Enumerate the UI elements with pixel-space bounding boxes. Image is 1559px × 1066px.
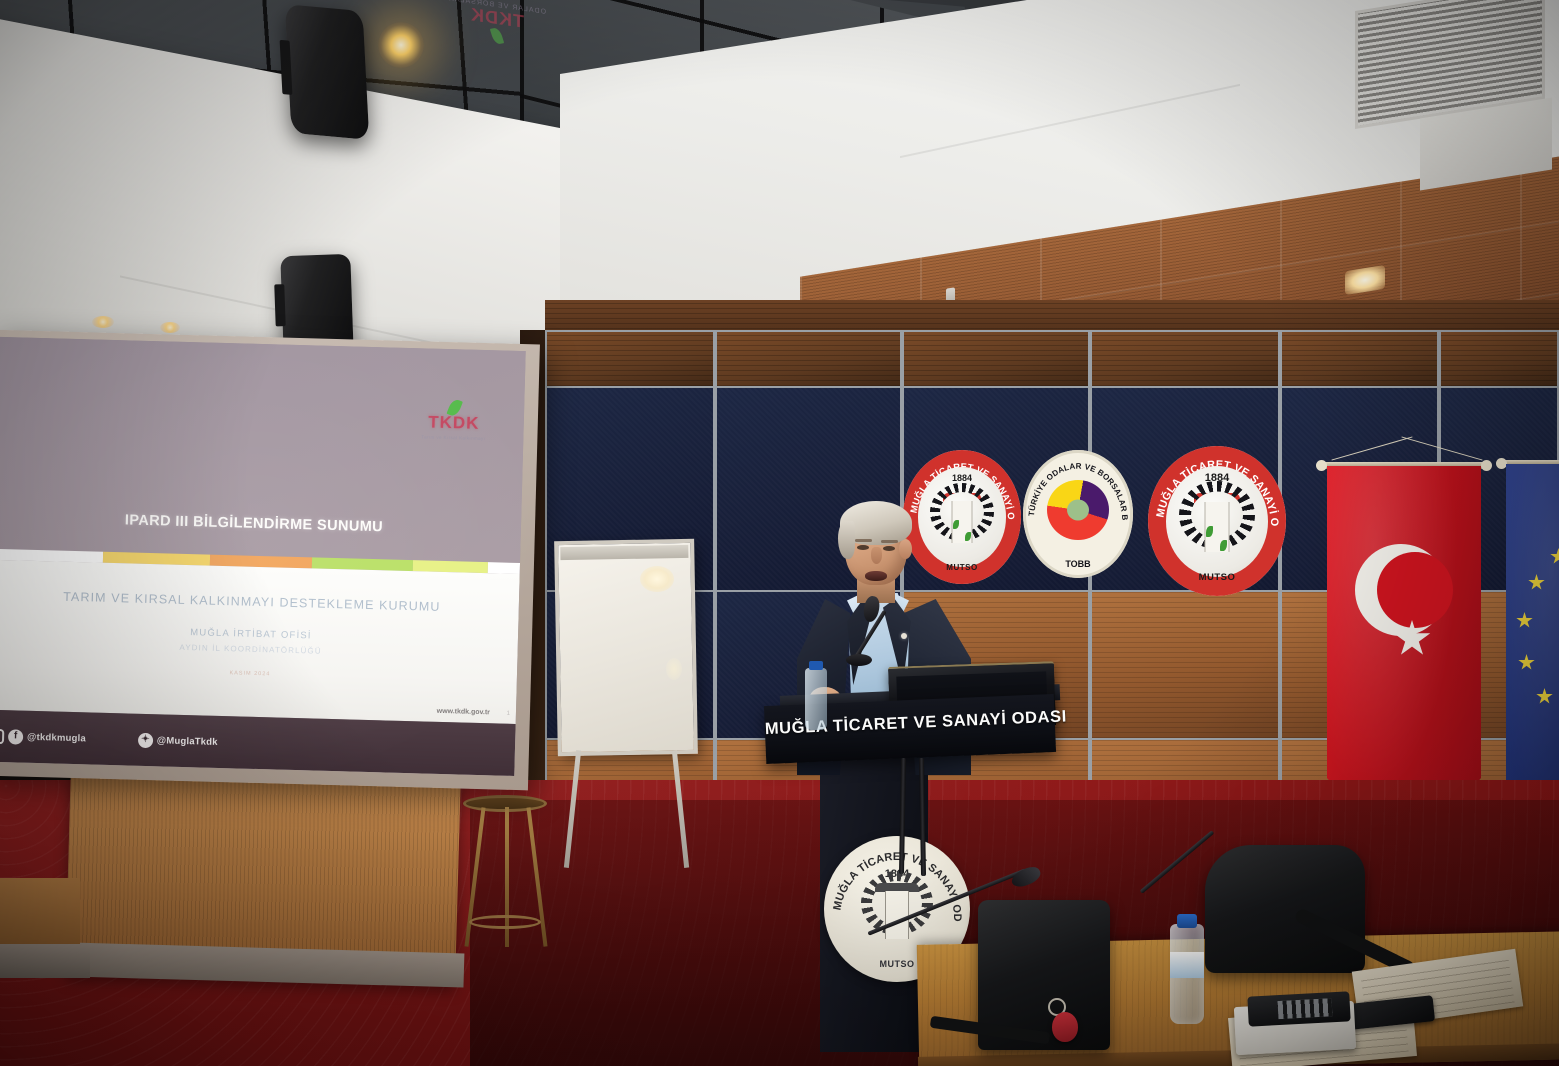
stage-kick-plate-left — [0, 944, 90, 978]
pedestal-stand — [455, 795, 555, 955]
social-group-twitter: ✦ @MuglaTkdk — [138, 732, 218, 749]
flipchart-easel — [556, 540, 706, 870]
social-group-meta: ◻ f @tkdkmugla — [0, 728, 86, 746]
recessed-downlight-6 — [92, 316, 114, 328]
nose — [871, 547, 882, 564]
crescent-icon — [1355, 544, 1447, 636]
stage-wood-panel-left — [0, 878, 80, 952]
mouth — [865, 571, 887, 581]
remote-control[interactable] — [1247, 991, 1350, 1026]
instagram-icon: ◻ — [0, 728, 4, 743]
tobb-emblem: TÜRKİYE ODALAR VE BORSALAR BİRLİĞİ TOBB — [1023, 450, 1133, 578]
social-handle-facebook: @tkdkmugla — [27, 731, 86, 744]
wall-cell — [1439, 330, 1559, 388]
colorbar-seg-6 — [488, 562, 520, 574]
wall-cell — [545, 330, 715, 388]
tkdk-wordmark: TKDK — [422, 412, 486, 434]
slide-website: www.tkdk.gov.tr — [437, 708, 490, 716]
wall-cell — [715, 330, 903, 388]
flipchart-board — [554, 539, 698, 756]
recessed-downlight-7 — [160, 322, 180, 333]
slide-organization: TARIM VE KIRSAL KALKINMAYI DESTEKLEME KU… — [0, 588, 519, 616]
eu-star-icon-2 — [1528, 574, 1545, 591]
ceiling-spotlight — [378, 22, 424, 68]
key-fob — [1052, 1012, 1078, 1042]
speaker-mount-bracket — [280, 40, 293, 95]
eyebrow-left — [855, 539, 872, 542]
conference-hall-photo: ODALAR VE BORSALAR TKDK — [0, 0, 1559, 1066]
slide-lower-area: TARIM VE KIRSAL KALKINMAYI DESTEKLEME KU… — [0, 560, 520, 724]
ceiling-speaker — [285, 4, 370, 140]
eye-left — [857, 545, 869, 550]
flipchart-glare — [640, 566, 674, 592]
pedestal-bottom-ring — [469, 915, 541, 929]
twitter-icon: ✦ — [138, 732, 153, 747]
tobb-logo-core — [1067, 500, 1089, 521]
microphone-base — [846, 654, 872, 666]
backpack — [1205, 845, 1365, 973]
wall-cell — [1090, 590, 1280, 740]
projection-screen-surface: TKDK Tarım ve Kırsal Kalkınmayı IPARD II… — [0, 337, 526, 776]
speaker-mount-bracket-2 — [274, 284, 285, 326]
emblem-year: 1884 — [903, 473, 1021, 483]
projection-screen: TKDK Tarım ve Kırsal Kalkınmayı IPARD II… — [0, 330, 540, 791]
water-bottle-podium-cap — [809, 661, 823, 670]
eyebrow-right — [881, 540, 898, 543]
wall-cell — [1280, 330, 1440, 388]
tobb-acronym: TOBB — [1023, 559, 1133, 569]
eu-star-icon-1 — [1550, 548, 1559, 565]
podium-emblem-arch — [875, 883, 919, 892]
water-bottle-cap — [1177, 914, 1197, 928]
facebook-icon: f — [8, 729, 23, 744]
eye-right — [883, 546, 895, 551]
emblem-acronym: MUTSO — [1148, 572, 1286, 583]
tkdk-logo: TKDK Tarım ve Kırsal Kalkınmayı — [421, 398, 486, 441]
reflection-leaf-icon — [490, 27, 504, 45]
eu-star-icon-4 — [1518, 654, 1535, 671]
eu-star-icon-3 — [1516, 612, 1533, 629]
flipchart-leg-left — [564, 750, 581, 868]
wall-cell — [1090, 330, 1280, 388]
eu-star-icon-5 — [1536, 688, 1553, 705]
ear — [899, 539, 912, 559]
lapel-pin-icon — [901, 633, 907, 639]
tobb-color-logo-icon — [1047, 480, 1109, 540]
mutso-emblem-right: MUĞLA TİCARET VE SANAYİ ODASI 1884 MUTSO — [1148, 446, 1286, 596]
flipchart-glare-2 — [666, 658, 682, 680]
slide-date: KASIM 2024 — [0, 664, 517, 684]
wall-cell — [902, 330, 1090, 388]
social-handle-twitter: @MuglaTkdk — [157, 735, 218, 748]
flipchart-leg-right — [672, 750, 689, 868]
hair-sideburn — [838, 521, 855, 559]
flipchart-clip — [560, 545, 688, 560]
slide-page-number: 1 — [507, 711, 511, 717]
water-bottle-podium — [805, 668, 827, 730]
remote-keypad[interactable] — [1278, 998, 1333, 1019]
water-bottle-label — [1170, 952, 1204, 978]
